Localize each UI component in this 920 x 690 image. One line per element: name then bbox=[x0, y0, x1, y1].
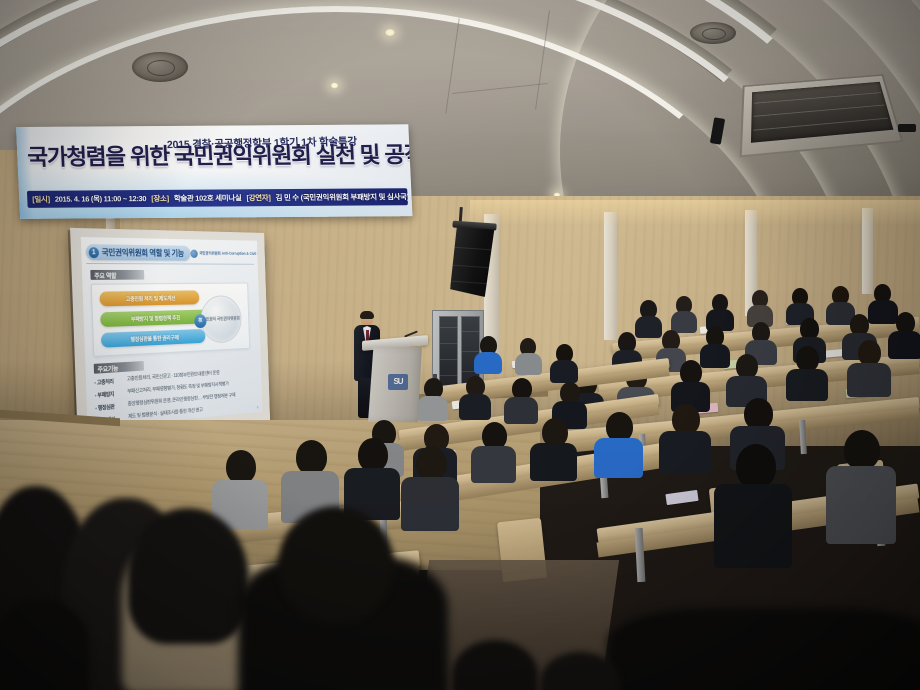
speaker-cabinet bbox=[450, 227, 495, 298]
person-head bbox=[844, 430, 880, 470]
projection-screen: 1 국민권익위원회 역할 및 기능 국민권익위원회 Anti-Corruptio… bbox=[70, 228, 270, 446]
presenter-hair bbox=[360, 311, 374, 319]
hvac-grille bbox=[751, 82, 893, 143]
slide-title-number: 1 bbox=[89, 247, 100, 258]
person-head bbox=[296, 440, 327, 475]
slide-circle-text: 국민권익 국민권익위원회 bbox=[202, 316, 240, 323]
ceiling-bracket-device bbox=[710, 117, 725, 145]
slide-bullet-tag-3: 행정심판 bbox=[95, 402, 124, 412]
person-torso bbox=[786, 369, 828, 401]
cabinet-shelf-line bbox=[462, 331, 479, 332]
slide-org-logo: 국민권익위원회 Anti-Corruption & Civil Rights C… bbox=[190, 249, 262, 258]
ceiling-seam-3 bbox=[452, 83, 548, 94]
ceiling-vent-1 bbox=[132, 52, 188, 82]
org-logo-text: 국민권익위원회 Anti-Corruption & Civil Rights C… bbox=[199, 251, 262, 256]
ceiling-spotlight-2 bbox=[330, 82, 339, 89]
banner-info-strip: [일시] 2015. 4. 16 (목) 11:00 ~ 12:30 [장소] … bbox=[27, 188, 408, 208]
person-torso bbox=[714, 484, 792, 568]
person-torso bbox=[474, 352, 502, 374]
cabinet-shelf-line bbox=[440, 375, 457, 376]
ceiling-camera bbox=[898, 124, 916, 132]
person-torso bbox=[401, 477, 459, 531]
cabinet-shelf-line bbox=[440, 327, 457, 328]
slide-section-2-bar: 주요기능 bbox=[94, 361, 144, 374]
slide-title-pill: 1 국민권익위원회 역할 및 기능 bbox=[86, 244, 191, 261]
wall-cove-glow bbox=[470, 200, 920, 226]
person-torso bbox=[417, 396, 448, 421]
person-torso bbox=[868, 300, 898, 324]
slide-bullet-tag-2: 부패방지 bbox=[95, 389, 124, 399]
slide-bar-2: 부패방지 및 청렴정책 추진 bbox=[100, 310, 208, 328]
person-torso bbox=[659, 431, 711, 473]
ceiling-vent-4 bbox=[690, 22, 736, 44]
banner-info-value-speaker: 김 민 수 (국민권익위원회 부패방지 및 심사국) bbox=[275, 191, 408, 203]
slide-title-text: 국민권익위원회 역할 및 기능 bbox=[101, 246, 184, 258]
person-torso bbox=[594, 438, 643, 478]
cabinet-door-left[interactable] bbox=[439, 316, 458, 388]
person-head bbox=[416, 446, 447, 481]
slide-header: 1 국민권익위원회 역할 및 기능 국민권익위원회 Anti-Corruptio… bbox=[86, 242, 254, 263]
ceiling-seam-2 bbox=[535, 10, 550, 109]
slide-bullet-text-2: 부패신고처리, 부패영향평가, 청렴도 측정 및 부패방지시책평가 bbox=[127, 381, 229, 395]
person-torso bbox=[847, 363, 891, 397]
foreground-head-8 bbox=[0, 600, 90, 690]
cabinet-shelf-line bbox=[462, 351, 479, 352]
ceiling-spotlight-1 bbox=[384, 28, 396, 37]
person-torso bbox=[504, 397, 538, 424]
slide-bullet-text-4: 제도 및 법령분석 · 실태조사를 통한 개선 권고 bbox=[128, 407, 203, 420]
slide-bullet-text-1: 고충민원처리, 국민신문고 · 110정부민원안내콜센터 운영 bbox=[127, 370, 220, 382]
foreground-person-3-hair bbox=[128, 508, 248, 644]
slide-bar-1: 고충민원 처리 및 제도개선 bbox=[99, 290, 199, 306]
banner-info-tag-speaker: [강연자] bbox=[246, 192, 271, 203]
hanging-speaker bbox=[447, 221, 496, 304]
foreground-person-5 bbox=[608, 608, 920, 690]
lecture-hall-photo: 2015 경찰·공공행정학부 1학기 1차 학술특강 국가청렴을 위한 국민권익… bbox=[0, 0, 920, 690]
slide-header-rule bbox=[86, 263, 254, 265]
person-head bbox=[736, 444, 776, 489]
banner-info-value-date: 2015. 4. 16 (목) 11:00 ~ 12:30 bbox=[55, 193, 147, 205]
ceiling-hvac-unit bbox=[740, 74, 904, 157]
person-torso bbox=[635, 316, 662, 338]
event-banner: 2015 경찰·공공행정학부 1학기 1차 학술특강 국가청렴을 위한 국민권익… bbox=[16, 124, 412, 219]
org-logo-mark-icon bbox=[190, 249, 198, 257]
podium-logo: SU bbox=[388, 374, 408, 390]
desk-paper bbox=[665, 490, 698, 505]
banner-info-tag-date: [일시] bbox=[32, 194, 50, 205]
person-torso bbox=[471, 446, 516, 483]
cabinet-shelf-line bbox=[440, 343, 457, 344]
person-torso bbox=[826, 466, 896, 544]
presentation-slide: 1 국민권익위원회 역할 및 기능 국민권익위원회 Anti-Corruptio… bbox=[81, 237, 263, 429]
slide-page-number: 4 bbox=[257, 405, 259, 410]
person-torso bbox=[700, 344, 730, 368]
slide-diagram-card: 고충민원 처리 및 제도개선 부패방지 및 청렴정책 추진 행정심판을 통한 권… bbox=[91, 283, 250, 357]
person-torso bbox=[550, 360, 578, 383]
cabinet-shelf-line bbox=[440, 359, 457, 360]
slide-bar-3: 행정심판을 통한 권리구제 bbox=[101, 329, 206, 348]
person-torso bbox=[530, 443, 577, 481]
slide-section-1-label: 주요 역할 bbox=[94, 270, 116, 280]
foreground-person-4-head bbox=[278, 506, 394, 624]
person-torso bbox=[515, 353, 542, 375]
ceiling-seam-1 bbox=[445, 18, 459, 113]
banner-info-value-place: 학술관 102호 세미나실 bbox=[174, 192, 242, 203]
person-torso bbox=[888, 331, 920, 359]
person-head bbox=[226, 450, 256, 484]
person-torso bbox=[459, 394, 491, 420]
slide-bullet-tag-1: 고충처리 bbox=[94, 377, 123, 387]
slide-section-1-bar: 주요 역할 bbox=[90, 270, 144, 280]
person-torso bbox=[671, 311, 697, 333]
slide-section-2-label: 주요기능 bbox=[97, 362, 118, 373]
banner-title: 국가청렴을 위한 국민권익위원회 실천 및 공직의 도전전략 bbox=[27, 144, 410, 169]
wall-pilaster-2 bbox=[604, 212, 617, 340]
slide-center-circle: 核 국민권익 국민권익위원회 bbox=[200, 295, 242, 344]
banner-info-tag-place: [장소] bbox=[151, 193, 169, 204]
person-head bbox=[358, 438, 388, 472]
slide-circle-badge: 核 bbox=[194, 314, 207, 328]
